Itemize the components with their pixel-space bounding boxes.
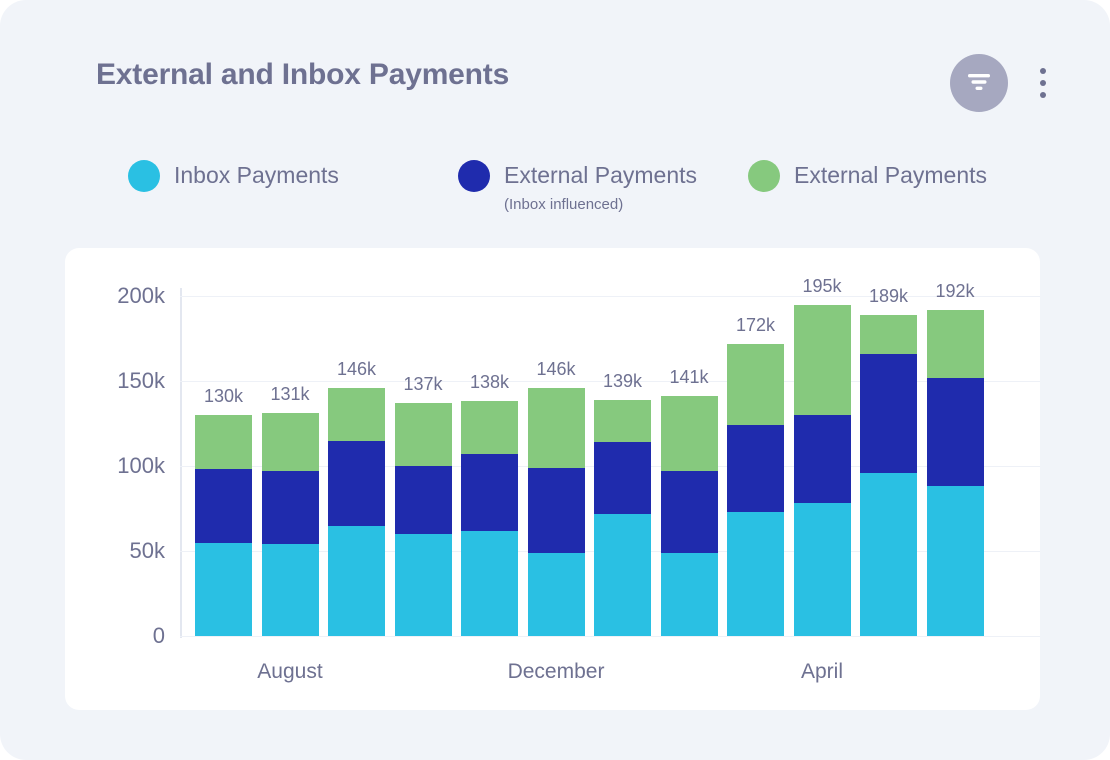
bar-value-label: 172k (736, 315, 775, 336)
bar-segment[interactable] (927, 486, 984, 636)
bar-segment[interactable] (927, 310, 984, 378)
bar-segment[interactable] (395, 466, 452, 534)
bar-segment[interactable] (195, 415, 252, 469)
kebab-menu-icon (1040, 68, 1046, 74)
x-axis-tick-label: August (257, 660, 322, 684)
bar-value-label: 195k (802, 276, 841, 297)
bar-value-label: 130k (204, 386, 243, 407)
bar-segment[interactable] (195, 469, 252, 542)
bar-segment[interactable] (860, 315, 917, 354)
bar-segment[interactable] (594, 442, 651, 513)
bar-value-label: 141k (669, 367, 708, 388)
bar-segment[interactable] (528, 553, 585, 636)
bar-segment[interactable] (794, 305, 851, 416)
y-axis-tick-label: 0 (75, 623, 165, 649)
bar-value-label: 131k (270, 384, 309, 405)
bar-segment[interactable] (461, 401, 518, 454)
bar-segment[interactable] (727, 512, 784, 636)
filter-icon (967, 73, 991, 94)
bar-value-label: 189k (869, 286, 908, 307)
bar-group[interactable]: 130k (195, 415, 252, 636)
kebab-menu-icon (1040, 92, 1046, 98)
legend-color-swatch (458, 160, 490, 192)
legend-color-swatch (748, 160, 780, 192)
y-axis-tick-label: 200k (75, 283, 165, 309)
y-axis-tick-label: 100k (75, 453, 165, 479)
bar-segment[interactable] (727, 425, 784, 512)
header-actions (950, 54, 1056, 112)
bar-segment[interactable] (528, 468, 585, 553)
bar-segment[interactable] (794, 415, 851, 503)
legend-item-label: Inbox Payments (174, 158, 339, 192)
filter-button[interactable] (950, 54, 1008, 112)
bar-segment[interactable] (927, 378, 984, 487)
legend-item-inbox-payments[interactable]: Inbox Payments (128, 158, 339, 192)
bar-segment[interactable] (661, 553, 718, 636)
bar-segment[interactable] (262, 544, 319, 636)
bar-segment[interactable] (328, 441, 385, 526)
legend-item-external-payments-inbox-influenced[interactable]: External Payments (Inbox influenced) (458, 158, 697, 216)
bar-segment[interactable] (262, 471, 319, 544)
legend-item-label: External Payments (794, 158, 987, 192)
bar-segment[interactable] (727, 344, 784, 426)
kebab-menu-button[interactable] (1030, 62, 1056, 104)
legend-color-swatch (128, 160, 160, 192)
bar-segment[interactable] (262, 413, 319, 471)
bar-segment[interactable] (328, 388, 385, 441)
chart-container: 200k150k100k50k0 130k131k146k137k138k146… (65, 248, 1040, 710)
bar-series: 130k131k146k137k138k146k139k141k172k195k… (195, 248, 1040, 710)
bar-group[interactable]: 195k (794, 305, 851, 636)
bar-segment[interactable] (528, 388, 585, 468)
x-axis-tick-label: December (508, 660, 605, 684)
bar-segment[interactable] (328, 526, 385, 637)
bar-group[interactable]: 172k (727, 344, 784, 636)
bar-value-label: 139k (603, 371, 642, 392)
legend-item-label: External Payments (504, 158, 697, 192)
card-header: External and Inbox Payments (96, 58, 1056, 116)
legend-item-sublabel: (Inbox influenced) (504, 194, 697, 216)
bar-segment[interactable] (661, 396, 718, 471)
bar-group[interactable]: 146k (328, 388, 385, 636)
bar-segment[interactable] (395, 534, 452, 636)
bar-group[interactable]: 141k (661, 396, 718, 636)
bar-value-label: 138k (470, 372, 509, 393)
bar-segment[interactable] (794, 503, 851, 636)
bar-group[interactable]: 137k (395, 403, 452, 636)
bar-segment[interactable] (195, 543, 252, 637)
y-axis-tick-label: 150k (75, 368, 165, 394)
legend-item-external-payments[interactable]: External Payments (748, 158, 987, 192)
dashboard-card: External and Inbox Payments (0, 0, 1110, 760)
page-title: External and Inbox Payments (96, 58, 509, 92)
bar-value-label: 146k (536, 359, 575, 380)
bar-value-label: 137k (403, 374, 442, 395)
stacked-bar-chart: 200k150k100k50k0 130k131k146k137k138k146… (65, 248, 1040, 710)
bar-group[interactable]: 189k (860, 315, 917, 636)
y-axis-tick-label: 50k (75, 538, 165, 564)
bar-segment[interactable] (661, 471, 718, 553)
bar-segment[interactable] (860, 473, 917, 636)
bar-segment[interactable] (461, 531, 518, 636)
bar-segment[interactable] (860, 354, 917, 473)
bar-group[interactable]: 138k (461, 401, 518, 636)
y-axis-line (180, 288, 182, 638)
chart-legend: Inbox Payments External Payments (Inbox … (128, 158, 1028, 228)
bar-segment[interactable] (594, 400, 651, 443)
bar-segment[interactable] (461, 454, 518, 531)
bar-group[interactable]: 131k (262, 413, 319, 636)
bar-group[interactable]: 139k (594, 400, 651, 636)
bar-value-label: 146k (337, 359, 376, 380)
bar-group[interactable]: 192k (927, 310, 984, 636)
bar-value-label: 192k (935, 281, 974, 302)
bar-group[interactable]: 146k (528, 388, 585, 636)
kebab-menu-icon (1040, 80, 1046, 86)
bar-segment[interactable] (395, 403, 452, 466)
bar-segment[interactable] (594, 514, 651, 636)
x-axis-tick-label: April (801, 660, 843, 684)
